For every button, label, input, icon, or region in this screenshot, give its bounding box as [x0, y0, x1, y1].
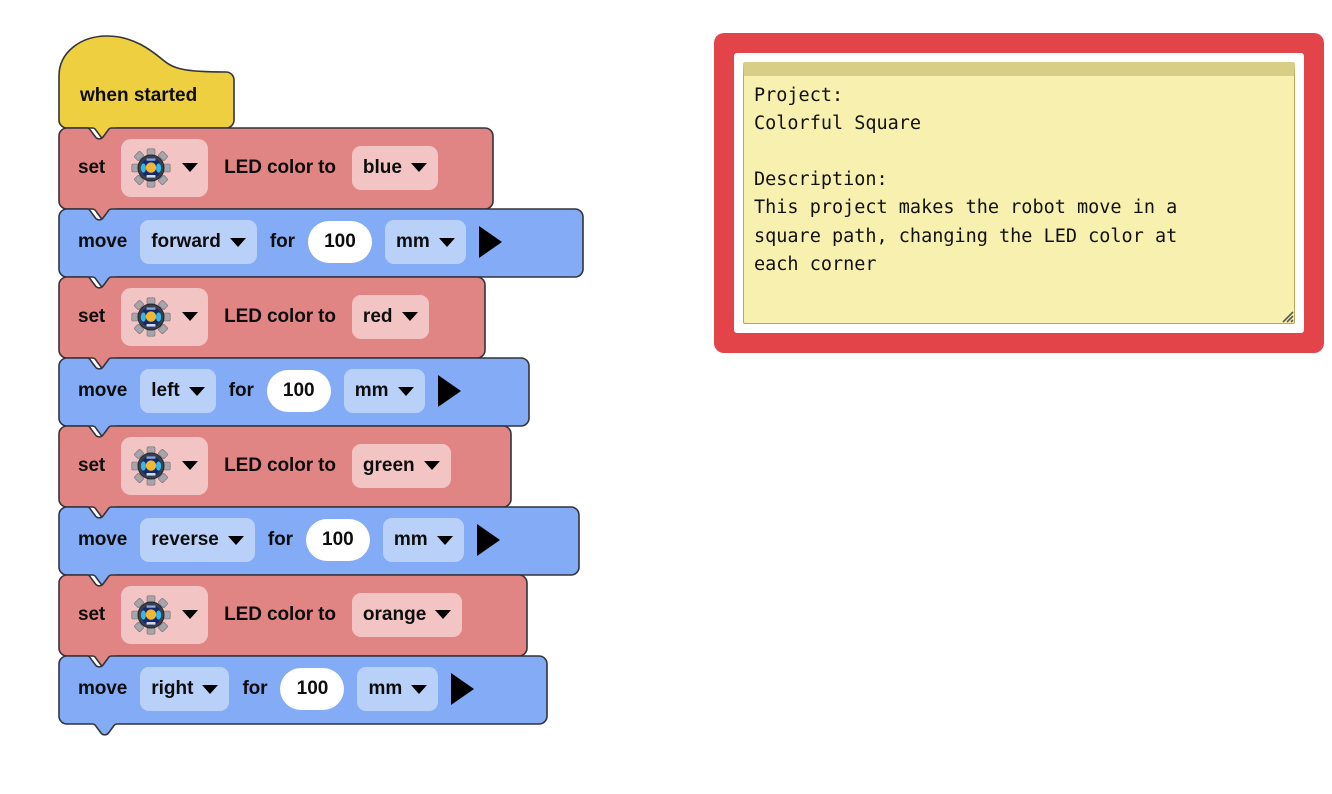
- direction-value: reverse: [151, 529, 219, 551]
- device-dropdown[interactable]: [121, 437, 208, 495]
- vex-robot-icon: [131, 595, 171, 635]
- block-keyword-led-color-to: LED color to: [224, 604, 336, 626]
- hat-block-label: when started: [80, 85, 197, 107]
- resize-grip-icon[interactable]: [1279, 308, 1294, 323]
- chevron-down-icon: [437, 536, 453, 545]
- units-value: mm: [394, 529, 428, 551]
- block-keyword-move: move: [78, 231, 127, 253]
- units-dropdown[interactable]: mm: [383, 518, 464, 562]
- chevron-down-icon: [228, 536, 244, 545]
- vex-robot-icon: [131, 446, 171, 486]
- chevron-down-icon: [411, 685, 427, 694]
- direction-value: forward: [151, 231, 221, 253]
- block-set-led-color[interactable]: setLED color toblue: [58, 127, 584, 221]
- block-workspace: when startedsetLED color tobluemoveforwa…: [0, 0, 1332, 794]
- direction-value: right: [151, 678, 193, 700]
- units-dropdown[interactable]: mm: [344, 369, 425, 413]
- led-color-dropdown[interactable]: green: [352, 444, 451, 488]
- vex-robot-icon: [131, 297, 171, 337]
- led-color-dropdown[interactable]: orange: [352, 593, 462, 637]
- block-set-led-color[interactable]: setLED color toorange: [58, 574, 584, 668]
- distance-input[interactable]: 100: [267, 370, 331, 412]
- block-set-led-color[interactable]: setLED color tored: [58, 276, 584, 370]
- led-color-dropdown[interactable]: red: [352, 295, 429, 339]
- distance-value: 100: [297, 678, 329, 700]
- units-dropdown[interactable]: mm: [357, 667, 438, 711]
- units-value: mm: [396, 231, 430, 253]
- device-dropdown[interactable]: [121, 586, 208, 644]
- distance-value: 100: [324, 231, 356, 253]
- chevron-down-icon: [189, 387, 205, 396]
- block-keyword-for: for: [270, 231, 295, 253]
- chevron-down-icon: [411, 163, 427, 172]
- distance-value: 100: [283, 380, 315, 402]
- chevron-down-icon: [424, 461, 440, 470]
- chevron-down-icon: [435, 610, 451, 619]
- distance-input[interactable]: 100: [308, 221, 372, 263]
- direction-dropdown[interactable]: left: [140, 369, 216, 413]
- chevron-down-icon: [182, 461, 198, 470]
- block-keyword-led-color-to: LED color to: [224, 455, 336, 477]
- distance-input[interactable]: 100: [306, 519, 370, 561]
- distance-value: 100: [322, 529, 354, 551]
- vex-robot-icon: [131, 148, 171, 188]
- notes-inner-frame: [734, 53, 1304, 333]
- block-stack: when startedsetLED color tobluemoveforwa…: [58, 33, 584, 723]
- device-dropdown[interactable]: [121, 139, 208, 197]
- play-triangle-icon[interactable]: [477, 524, 500, 556]
- chevron-down-icon: [439, 238, 455, 247]
- direction-dropdown[interactable]: forward: [140, 220, 257, 264]
- play-triangle-icon[interactable]: [451, 673, 474, 705]
- project-notes-textarea[interactable]: [743, 62, 1295, 324]
- block-move[interactable]: moverightfor100mm: [58, 655, 584, 736]
- direction-value: left: [151, 380, 180, 402]
- block-keyword-for: for: [229, 380, 254, 402]
- project-notes-panel: [714, 33, 1324, 353]
- play-triangle-icon[interactable]: [438, 375, 461, 407]
- units-value: mm: [355, 380, 389, 402]
- units-value: mm: [368, 678, 402, 700]
- block-set-led-color[interactable]: setLED color togreen: [58, 425, 584, 519]
- block-keyword-set: set: [78, 157, 105, 179]
- chevron-down-icon: [182, 312, 198, 321]
- distance-input[interactable]: 100: [280, 668, 344, 710]
- block-keyword-set: set: [78, 604, 105, 626]
- direction-dropdown[interactable]: reverse: [140, 518, 255, 562]
- block-keyword-led-color-to: LED color to: [224, 157, 336, 179]
- chevron-down-icon: [182, 163, 198, 172]
- block-keyword-set: set: [78, 455, 105, 477]
- chevron-down-icon: [398, 387, 414, 396]
- chevron-down-icon: [230, 238, 246, 247]
- block-keyword-for: for: [268, 529, 293, 551]
- device-dropdown[interactable]: [121, 288, 208, 346]
- led-color-dropdown[interactable]: blue: [352, 146, 438, 190]
- chevron-down-icon: [202, 685, 218, 694]
- block-keyword-led-color-to: LED color to: [224, 306, 336, 328]
- units-dropdown[interactable]: mm: [385, 220, 466, 264]
- led-color-value: red: [363, 306, 393, 328]
- led-color-value: orange: [363, 604, 426, 626]
- block-keyword-move: move: [78, 678, 127, 700]
- play-triangle-icon[interactable]: [479, 226, 502, 258]
- led-color-value: blue: [363, 157, 402, 179]
- chevron-down-icon: [182, 610, 198, 619]
- direction-dropdown[interactable]: right: [140, 667, 229, 711]
- block-keyword-set: set: [78, 306, 105, 328]
- block-keyword-move: move: [78, 380, 127, 402]
- block-keyword-for: for: [242, 678, 267, 700]
- chevron-down-icon: [402, 312, 418, 321]
- hat-block-when-started[interactable]: when started: [58, 33, 584, 140]
- led-color-value: green: [363, 455, 415, 477]
- block-keyword-move: move: [78, 529, 127, 551]
